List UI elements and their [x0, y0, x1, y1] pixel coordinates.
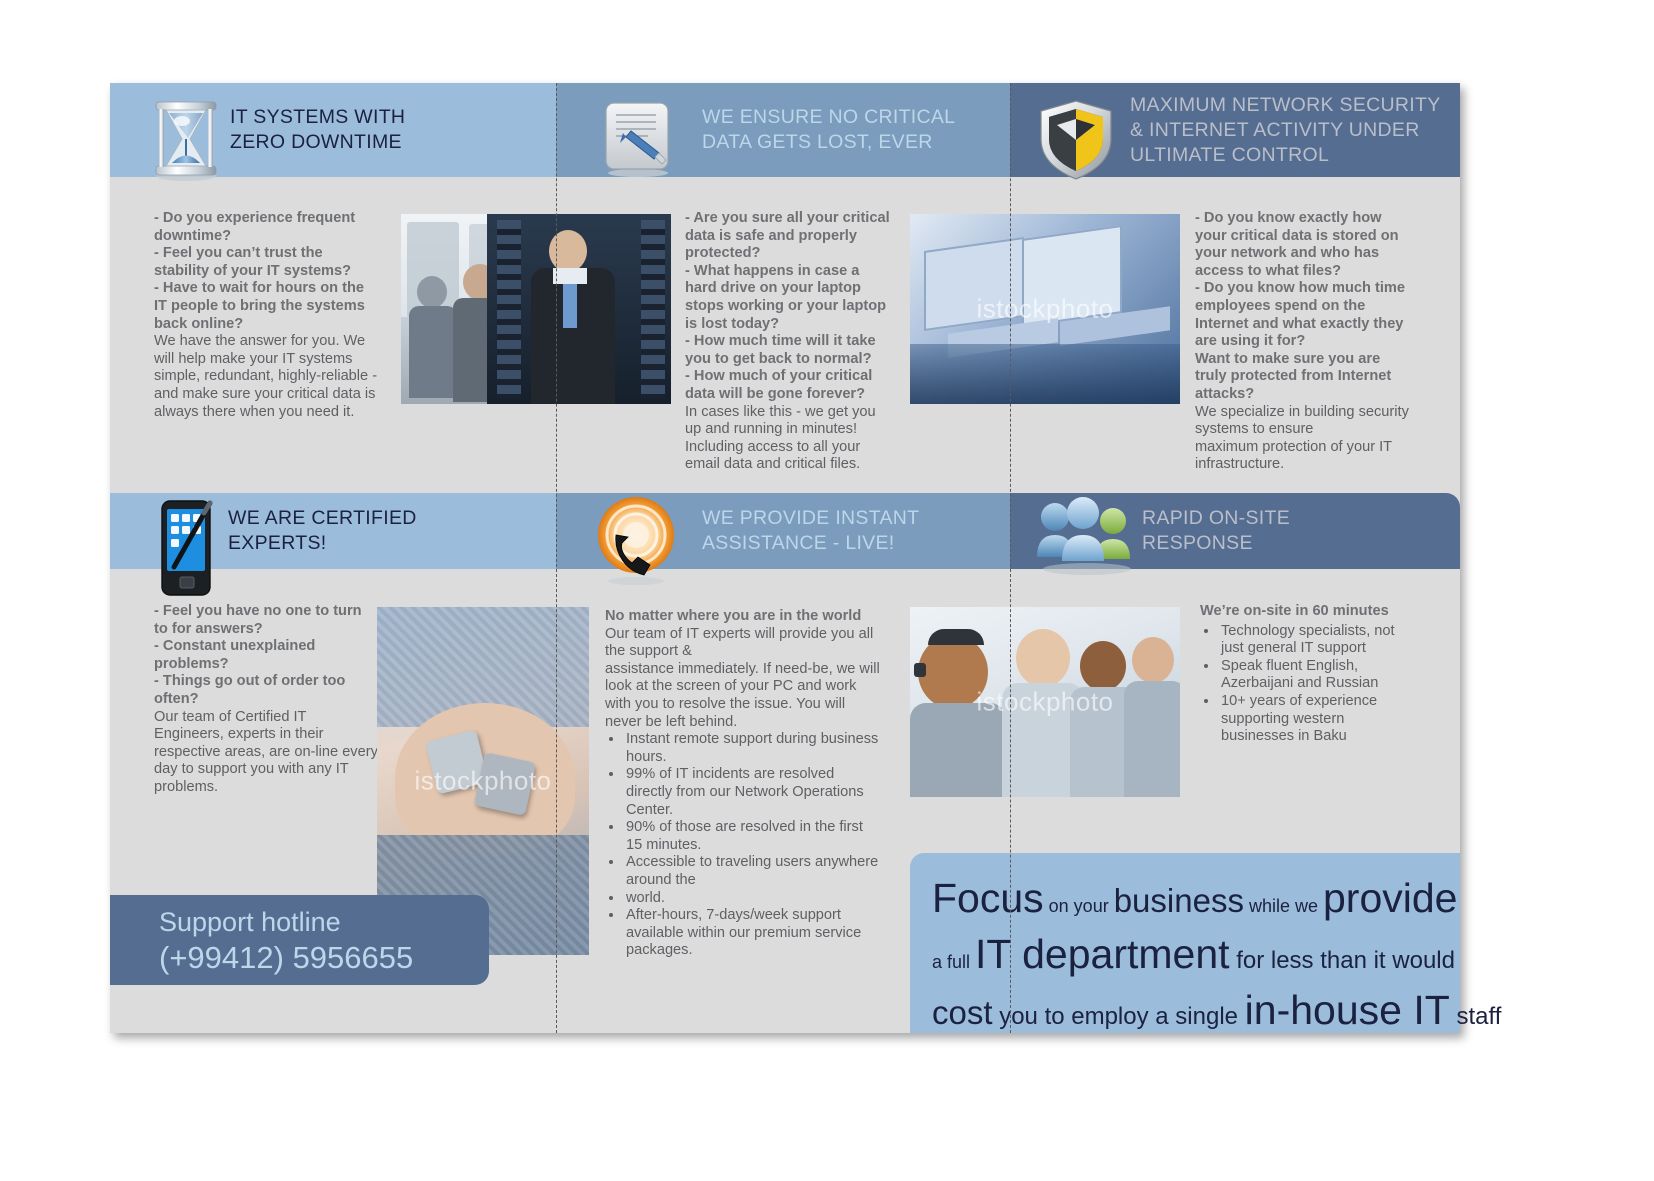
- question-item: - Do you know exactly how your critical …: [1195, 210, 1410, 280]
- tagline-word: Focus: [932, 875, 1044, 921]
- list-item: 99% of IT incidents are resolved directl…: [624, 766, 880, 819]
- tagline-panel: Focus on your business while we provide …: [910, 853, 1460, 1033]
- tagline-word: IT department: [975, 931, 1230, 977]
- question-item: Want to make sure you are truly protecte…: [1195, 351, 1410, 404]
- list-item: 90% of those are resolved in the first 1…: [624, 819, 880, 854]
- list-item: Technology specialists, not just general…: [1219, 623, 1415, 658]
- question-item: - How much of your critical data will be…: [685, 368, 890, 403]
- tagline-word: in-house IT: [1245, 987, 1450, 1033]
- lead-text: We’re on-site in 60 minutes: [1200, 603, 1415, 621]
- panel-header-certified-experts: WE ARE CERTIFIED EXPERTS!: [110, 493, 556, 569]
- question-item: - Do you know how much time employees sp…: [1195, 280, 1410, 350]
- body-paragraph: Our team of IT experts will provide you …: [605, 626, 880, 661]
- panel-header-rapid-onsite: RAPID ON-SITE RESPONSE: [1010, 493, 1460, 569]
- panel-header-network-security: MAXIMUM NETWORK SECURITY & INTERNET ACTI…: [1010, 83, 1460, 177]
- panel-text-instant-assistance: No matter where you are in the world Our…: [605, 608, 880, 960]
- list-item: After-hours, 7-days/week support availab…: [624, 907, 880, 960]
- panel-header-no-data-lost: WE ENSURE NO CRITICAL DATA GETS LOST, EV…: [556, 83, 1010, 177]
- list-item: Speak fluent English, Azerbaijani and Ru…: [1219, 658, 1415, 693]
- tagline-word: cost: [932, 994, 993, 1031]
- question-item: - Feel you have no one to turn to for an…: [154, 603, 379, 638]
- hotline-label-bold: hotline: [261, 907, 341, 937]
- lead-text: No matter where you are in the world: [605, 608, 880, 626]
- panel-title-rapid-onsite: RAPID ON-SITE RESPONSE: [1142, 506, 1290, 556]
- hotline-label: Support hotline: [159, 905, 489, 939]
- panel-text-certified-experts: - Feel you have no one to turn to for an…: [154, 603, 379, 797]
- tagline-word: business: [1114, 882, 1244, 919]
- body-paragraph: In cases like this - we get you up and r…: [685, 404, 890, 474]
- list-item: Instant remote support during business h…: [624, 731, 880, 766]
- photo-watermark: istockphoto: [910, 294, 1180, 325]
- tagline-word: staff: [1450, 1003, 1502, 1030]
- list-item: world.: [624, 890, 880, 908]
- panel-text-rapid-onsite: We’re on-site in 60 minutes Technology s…: [1200, 603, 1415, 746]
- panel-text-no-data-lost: - Are you sure all your critical data is…: [685, 210, 890, 474]
- panel-title-instant-assistance: WE PROVIDE INSTANT ASSISTANCE - LIVE!: [702, 506, 919, 556]
- tagline-word: provide: [1323, 875, 1457, 921]
- tagline-word: a full: [932, 952, 975, 972]
- brochure-page: IT SYSTEMS WITH ZERO DOWNTIME WE ENSURE …: [110, 83, 1460, 1033]
- onsite-bullet-list: Technology specialists, not just general…: [1200, 623, 1415, 746]
- photo-call-center: istockphoto: [910, 607, 1180, 797]
- photo-watermark: istockphoto: [910, 687, 1180, 718]
- question-item: - Do you experience frequent downtime?: [154, 210, 379, 245]
- list-item: Accessible to traveling users anywhere a…: [624, 854, 880, 889]
- question-item: - Are you sure all your critical data is…: [685, 210, 890, 263]
- panel-title-certified-experts: WE ARE CERTIFIED EXPERTS!: [228, 506, 417, 556]
- photo-computer-lab: istockphoto: [910, 214, 1180, 404]
- panel-text-zero-downtime: - Do you experience frequent downtime? -…: [154, 210, 379, 421]
- photo-businessman: [487, 214, 671, 404]
- panel-title-zero-downtime: IT SYSTEMS WITH ZERO DOWNTIME: [230, 105, 405, 155]
- body-paragraph: Our team of Certified IT Engineers, expe…: [154, 709, 379, 797]
- panel-title-network-security: MAXIMUM NETWORK SECURITY & INTERNET ACTI…: [1130, 93, 1441, 168]
- hotline-label-prefix: Support: [159, 907, 261, 937]
- body-paragraph: We have the answer for you. We will help…: [154, 333, 379, 421]
- list-item: 10+ years of experience supporting weste…: [1219, 693, 1415, 746]
- tagline-word: for less than it would: [1230, 947, 1455, 974]
- panel-header-instant-assistance: WE PROVIDE INSTANT ASSISTANCE - LIVE!: [556, 493, 1010, 569]
- photo-watermark: istockphoto: [377, 766, 589, 797]
- tagline-word: on your: [1044, 896, 1114, 916]
- tagline-row-3: cost you to employ a single in-house IT …: [932, 987, 1442, 1043]
- question-item: - How much time will it take you to get …: [685, 333, 890, 368]
- body-paragraph: assistance immediately. If need-be, we w…: [605, 661, 880, 731]
- tagline-word: while we: [1244, 896, 1323, 916]
- tagline-row-2: a full IT department for less than it wo…: [932, 931, 1442, 987]
- support-hotline-panel: Support hotline (+99412) 5956655: [110, 895, 489, 985]
- question-item: - Things go out of order too often?: [154, 673, 379, 708]
- panel-text-network-security: - Do you know exactly how your critical …: [1195, 210, 1410, 474]
- question-item: - What happens in case a hard drive on y…: [685, 263, 890, 333]
- question-item: - Constant unexplained problems?: [154, 638, 379, 673]
- body-paragraph: We specialize in building security syste…: [1195, 404, 1410, 439]
- hotline-number: (+99412) 5956655: [159, 939, 489, 977]
- question-item: - Have to wait for hours on the IT peopl…: [154, 280, 379, 333]
- tagline-word: you to employ a single: [993, 1003, 1245, 1030]
- body-paragraph: maximum protection of your IT infrastruc…: [1195, 439, 1410, 474]
- panel-title-no-data-lost: WE ENSURE NO CRITICAL DATA GETS LOST, EV…: [702, 105, 955, 155]
- question-item: - Feel you can’t trust the stability of …: [154, 245, 379, 280]
- panel-header-zero-downtime: IT SYSTEMS WITH ZERO DOWNTIME: [110, 83, 556, 177]
- assistance-bullet-list: Instant remote support during business h…: [605, 731, 880, 960]
- tagline-row-1: Focus on your business while we provide: [932, 875, 1442, 931]
